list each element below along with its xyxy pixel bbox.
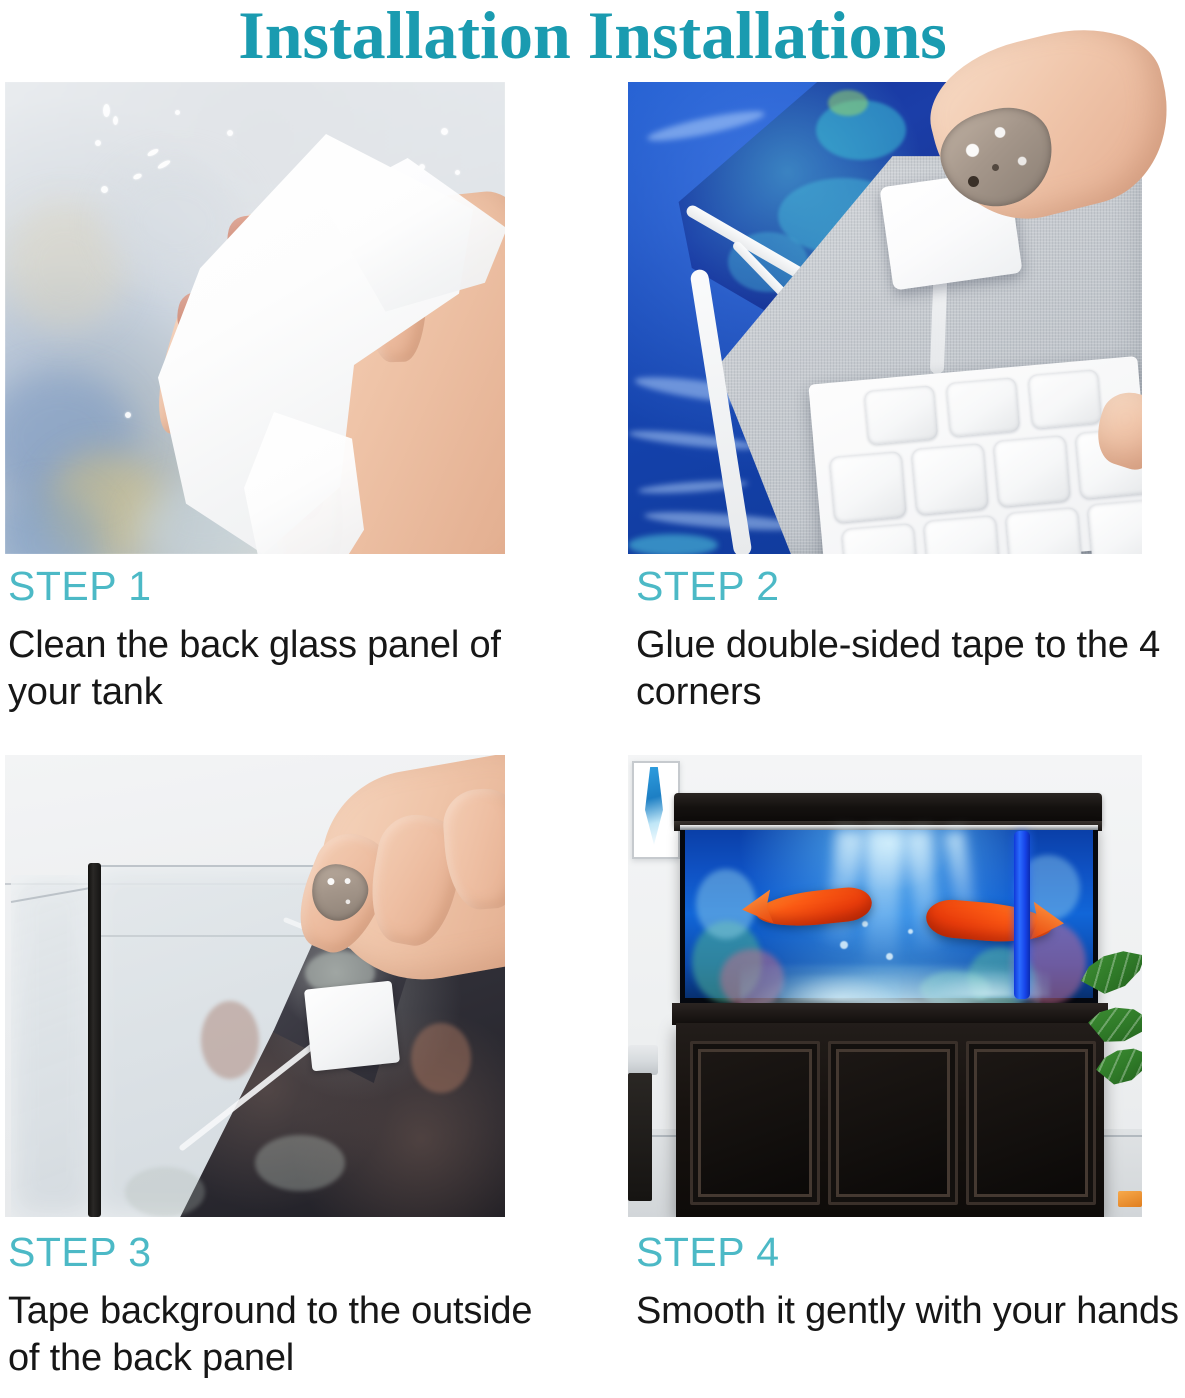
side-object: [628, 1045, 658, 1075]
glass-tank-side-panel: [11, 875, 95, 1217]
tape-pad: [993, 435, 1070, 507]
step-3-label: STEP 3: [8, 1232, 568, 1274]
wall-picture-frame: [632, 761, 680, 859]
step-3-photo: [5, 755, 505, 1217]
aquarium-heater-tube: [1014, 831, 1030, 999]
tape-pad: [829, 451, 906, 523]
bubble: [908, 929, 913, 934]
page-title: Installation Installations: [238, 0, 947, 75]
poster-rock-texture: [411, 1023, 471, 1093]
poster-green-accent: [828, 90, 868, 116]
tank-corner-trim: [88, 863, 101, 1217]
water-droplet: [227, 130, 233, 136]
sand-bed: [930, 971, 1050, 997]
water-droplet: [95, 140, 101, 146]
hand-holding-tape: [928, 36, 1185, 226]
water-droplet: [113, 116, 118, 125]
tape-pad: [911, 443, 988, 515]
step-2-description: Glue double-sided tape to the 4 corners: [636, 622, 1181, 715]
step-4-caption: STEP 4 Smooth it gently with your hands: [636, 1232, 1181, 1335]
step-4-photo: [628, 755, 1142, 1217]
coral-cluster: [696, 869, 756, 939]
wall-picture-art: [638, 767, 670, 845]
step-1-photo: [5, 82, 505, 554]
poster-rock-texture: [201, 1001, 259, 1079]
cabinet-top: [672, 1003, 1108, 1025]
tape-pad: [923, 515, 1000, 554]
sand-bed: [780, 975, 900, 1001]
cabinet-door-left: [690, 1041, 820, 1205]
tape-pad: [864, 385, 938, 445]
cabinet-door-center: [828, 1041, 958, 1205]
water-droplet: [125, 412, 131, 418]
tape-pad: [841, 523, 918, 554]
step-4-label: STEP 4: [636, 1232, 1181, 1274]
double-sided-tape-square: [304, 981, 400, 1072]
nail-decoration-dot: [992, 164, 999, 171]
step-4-description: Smooth it gently with your hands: [636, 1288, 1181, 1335]
step-1-image: [5, 82, 505, 554]
floor-accent-object: [1118, 1191, 1142, 1207]
water-highlight: [628, 534, 718, 554]
aquarium-tank: [680, 825, 1098, 1003]
step-2-label: STEP 2: [636, 566, 1181, 608]
cabinet-stand: [676, 1023, 1104, 1217]
step-2-caption: STEP 2 Glue double-sided tape to the 4 c…: [636, 566, 1181, 715]
nail-decoration-dot: [968, 176, 979, 187]
step-1-caption: STEP 1 Clean the back glass panel of you…: [8, 566, 568, 715]
tape-pad: [1005, 507, 1082, 554]
tape-pad: [946, 377, 1020, 437]
poster-rock-texture: [255, 1135, 345, 1191]
step-3-caption: STEP 3 Tape background to the outside of…: [8, 1232, 568, 1381]
water-droplet: [103, 104, 110, 117]
tape-pad: [1028, 369, 1102, 429]
step-4-image: [628, 755, 1142, 1217]
step-1-label: STEP 1: [8, 566, 568, 608]
bubble: [840, 941, 848, 949]
water-droplet: [175, 110, 180, 115]
step-3-image: [5, 755, 505, 1217]
step-3-description: Tape background to the outside of the ba…: [8, 1288, 568, 1381]
water-droplet: [455, 170, 460, 175]
step-2-photo: [628, 82, 1142, 554]
poster-rock-texture: [125, 1167, 205, 1217]
cabinet-door-right: [966, 1041, 1096, 1205]
bubble: [862, 921, 868, 927]
bubble: [886, 953, 893, 960]
side-object-dark: [628, 1073, 652, 1201]
step-1-description: Clean the back glass panel of your tank: [8, 622, 568, 715]
water-droplet: [101, 186, 108, 193]
tape-pad: [1087, 499, 1142, 554]
water-droplet: [441, 128, 448, 135]
